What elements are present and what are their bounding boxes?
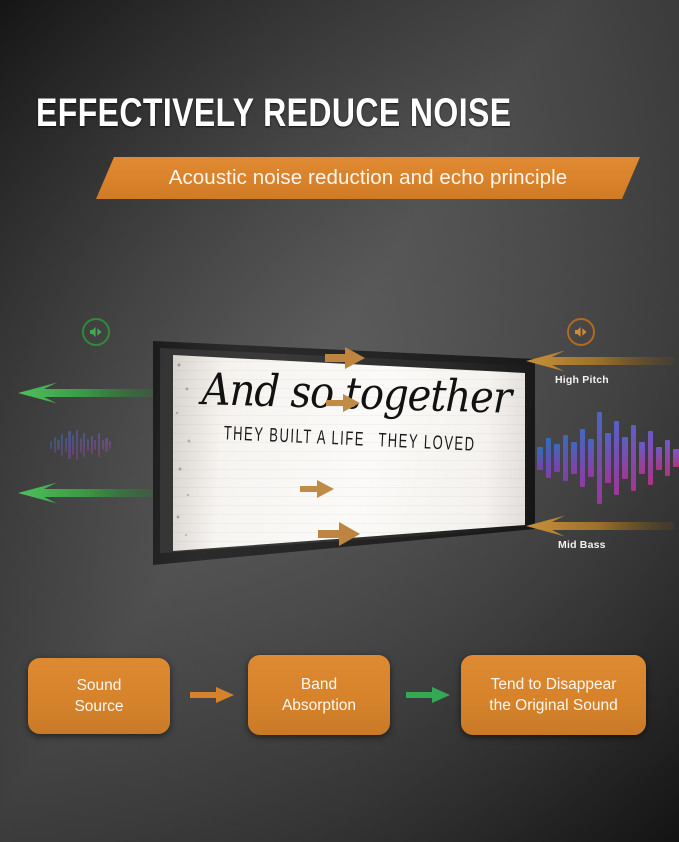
waveform-bar — [57, 440, 59, 451]
sign-subtitle-left: THEY BUILT A LIFE — [223, 422, 365, 450]
waveform-bar — [597, 412, 603, 504]
flow-box-1-line2: Source — [74, 696, 123, 717]
flow-arrow-1 — [190, 687, 234, 703]
green-arrow-lower-left — [16, 482, 166, 504]
waveform-bar — [80, 438, 82, 453]
waveform-bar — [656, 447, 662, 470]
waveform-bar — [648, 431, 654, 485]
page-title: EFFECTIVELY REDUCE NOISE — [36, 92, 511, 134]
orange-arrow-mid-bass — [524, 515, 674, 537]
subtitle-banner-label: Acoustic noise reduction and echo princi… — [96, 157, 640, 199]
speaker-icon-left — [82, 318, 110, 346]
flow-box-2-line2: Absorption — [282, 695, 356, 716]
waveform-bar — [563, 435, 569, 481]
waveform-bar — [614, 421, 620, 494]
sign-subtitle-line: THEY BUILT A LIFETHEY LOVED — [205, 421, 494, 456]
subtitle-banner: Acoustic noise reduction and echo princi… — [96, 157, 640, 199]
speaker-glyph-left — [88, 325, 104, 339]
waveform-bar — [72, 435, 74, 454]
infographic-stage: EFFECTIVELY REDUCE NOISE Acoustic noise … — [0, 0, 679, 842]
sign-arrow-lower-mid — [300, 478, 336, 500]
waveform-bar — [91, 436, 93, 454]
waveform-bar — [65, 438, 67, 452]
waveform-bar — [98, 433, 100, 458]
waveform-bar — [588, 439, 594, 477]
sign-arrow-bottom — [318, 520, 362, 548]
flow-box-disappear-sound[interactable]: Tend to Disappear the Original Sound — [461, 655, 646, 735]
sign-arrow-top — [325, 345, 367, 371]
mid-bass-label: Mid Bass — [558, 539, 606, 551]
high-pitch-label: High Pitch — [555, 374, 609, 386]
waveform-left — [50, 430, 111, 460]
waveform-bar — [580, 429, 586, 488]
waveform-bar — [665, 440, 671, 476]
flow-box-1-line1: Sound — [74, 675, 123, 696]
waveform-bar — [61, 434, 63, 456]
flow-box-3-line2: the Original Sound — [489, 695, 617, 716]
orange-arrow-high-pitch — [524, 350, 674, 372]
waveform-bar — [631, 425, 637, 492]
speaker-icon-right — [567, 318, 595, 346]
speaker-glyph-right — [573, 325, 589, 339]
waveform-bar — [94, 440, 96, 450]
waveform-bar — [83, 433, 85, 456]
flow-arrow-2 — [406, 687, 450, 703]
waveform-bar — [87, 439, 89, 451]
flow-box-band-absorption[interactable]: Band Absorption — [248, 655, 390, 735]
waveform-bar — [571, 442, 577, 473]
waveform-bar — [105, 438, 107, 452]
flow-box-3-line1: Tend to Disappear — [489, 674, 617, 695]
flow-box-2-line1: Band — [282, 674, 356, 695]
waveform-right — [537, 412, 679, 504]
waveform-bar — [50, 441, 52, 449]
waveform-bar — [102, 440, 104, 451]
waveform-bar — [54, 437, 56, 453]
waveform-bar — [109, 441, 111, 449]
waveform-bar — [639, 442, 645, 473]
flow-box-sound-source[interactable]: Sound Source — [28, 658, 170, 734]
green-arrow-upper-left — [16, 382, 166, 404]
waveform-bar — [605, 433, 611, 483]
waveform-bar — [554, 444, 560, 471]
sign-subtitle-right: THEY LOVED — [378, 429, 476, 455]
waveform-bar — [537, 447, 543, 470]
waveform-bar — [76, 430, 78, 460]
waveform-bar — [622, 437, 628, 479]
sign-arrow-upper-mid — [326, 392, 362, 414]
waveform-bar — [546, 438, 552, 478]
waveform-bar — [673, 449, 679, 468]
waveform-bar — [68, 431, 70, 458]
